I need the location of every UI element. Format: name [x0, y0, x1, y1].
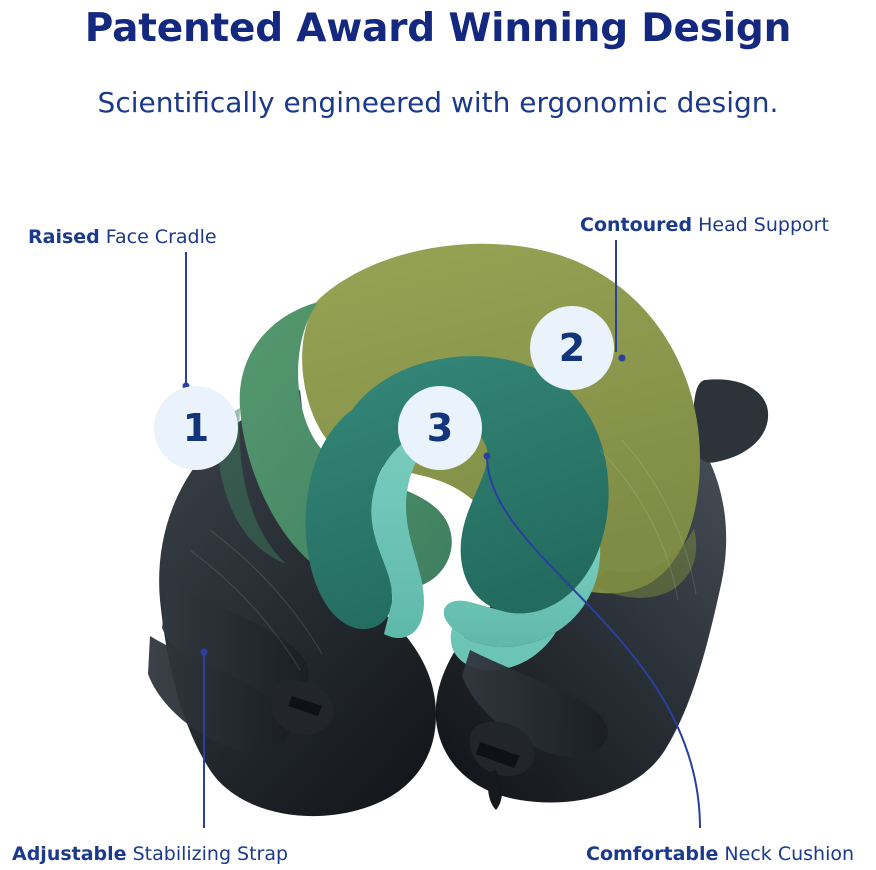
badge-3: 3	[398, 386, 482, 470]
leader-dot-neck	[484, 453, 491, 460]
callout-raised-face-cradle-bold: Raised	[28, 226, 100, 248]
callout-contoured-head-support-rest: Head Support	[692, 214, 829, 236]
callout-raised-face-cradle: Raised Face Cradle	[28, 226, 217, 248]
leader-dot-strap	[201, 649, 208, 656]
leader-dot-2	[619, 355, 626, 362]
callout-adjustable-stabilizing-strap: Adjustable Stabilizing Strap	[12, 843, 288, 865]
callout-adjustable-stabilizing-strap-bold: Adjustable	[12, 843, 127, 865]
badge-2: 2	[530, 306, 614, 390]
callout-contoured-head-support-bold: Contoured	[580, 214, 692, 236]
leader-line-neck-cushion	[487, 456, 700, 828]
callout-adjustable-stabilizing-strap-rest: Stabilizing Strap	[127, 843, 289, 865]
badge-1: 1	[154, 386, 238, 470]
callout-comfortable-neck-cushion-rest: Neck Cushion	[718, 843, 854, 865]
callout-raised-face-cradle-rest: Face Cradle	[100, 226, 217, 248]
callout-comfortable-neck-cushion: Comfortable Neck Cushion	[586, 843, 854, 865]
callout-comfortable-neck-cushion-bold: Comfortable	[586, 843, 718, 865]
callout-contoured-head-support: Contoured Head Support	[580, 214, 829, 236]
product-feature-diagram: Patented Award Winning Design Scientific…	[0, 0, 876, 870]
